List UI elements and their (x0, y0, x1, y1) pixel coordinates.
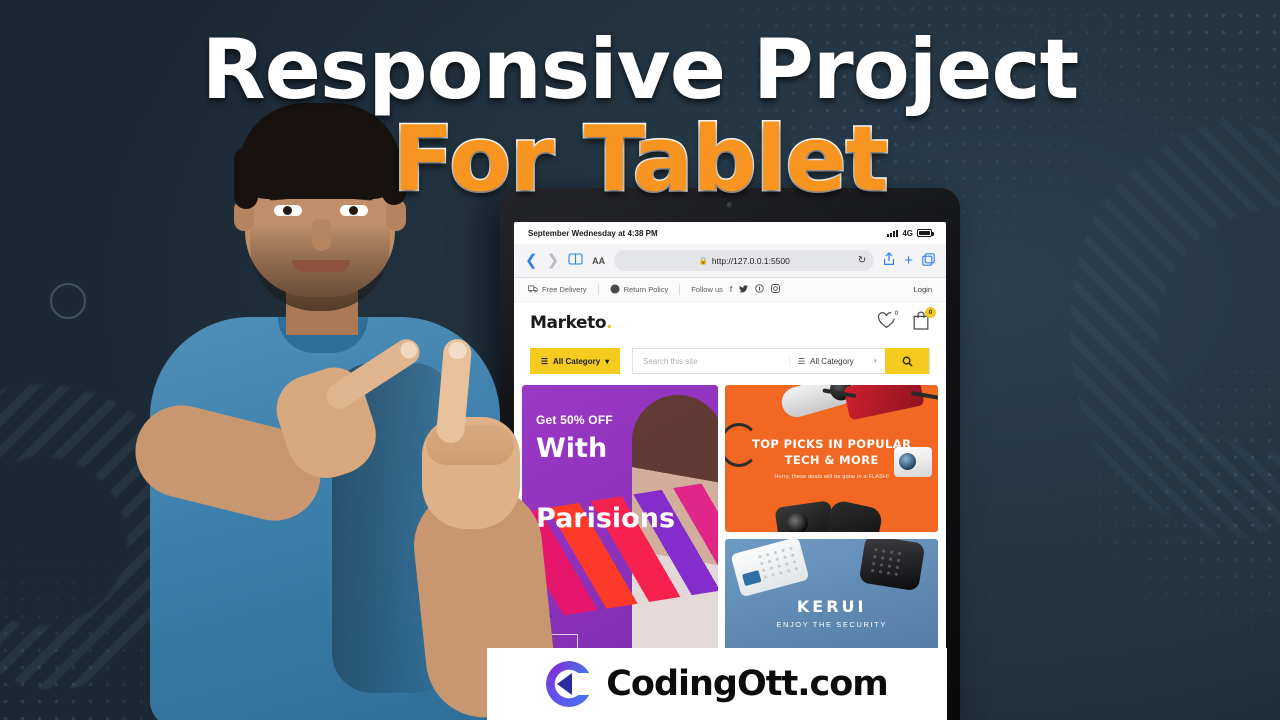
drone-product-image (843, 385, 924, 421)
page-subtitle: For Tablet (0, 115, 1280, 205)
wishlist-count-badge: 0 (891, 308, 902, 319)
presenter-mouth (292, 260, 350, 272)
brand-name: CodingOtt.com (606, 664, 888, 704)
wishlist-button[interactable]: 0 (877, 312, 896, 334)
chevron-down-icon: ▾ (873, 357, 877, 365)
network-label: 4G (902, 229, 913, 238)
return-policy-item[interactable]: Return Policy (610, 284, 680, 296)
cart-count-badge: 0 (925, 307, 936, 318)
cart-button[interactable]: 0 (912, 311, 930, 335)
search-submit-button[interactable] (885, 348, 929, 374)
search-category-select[interactable]: ☰ All Category ▾ (789, 357, 885, 366)
headline-block: Responsive Project For Tablet (0, 0, 1280, 205)
divider (679, 284, 680, 295)
search-category-label: All Category (810, 357, 854, 366)
presenter-eye-right (340, 205, 368, 216)
presenter-nose (312, 219, 331, 251)
menu-icon: ☰ (798, 357, 805, 366)
logo-arrow (557, 673, 572, 695)
presenter-eye-left (274, 205, 302, 216)
address-bar[interactable]: 🔒 http://127.0.0.1:5500 ↻ (614, 250, 874, 271)
search-icon (902, 356, 913, 367)
logo-ring-gap (577, 673, 593, 695)
plus-icon[interactable]: + (904, 253, 913, 268)
return-policy-label: Return Policy (624, 285, 669, 294)
alarm-keypad-image (731, 539, 810, 597)
globe-icon (610, 284, 620, 296)
search-box: ☰ All Category ▾ (632, 348, 930, 374)
page-title: Responsive Project (0, 28, 1280, 111)
social-links: f (730, 284, 780, 295)
header-icons: 0 0 (877, 311, 930, 335)
promo-kerui-title: KERUI (797, 597, 867, 616)
brand-watermark: CodingOtt.com (487, 648, 947, 720)
facebook-icon[interactable]: f (730, 285, 732, 294)
instagram-icon[interactable] (771, 284, 780, 295)
follow-us-label: Follow us (691, 285, 723, 294)
chevron-down-icon: ▾ (605, 357, 609, 366)
site-logo-dot: . (606, 313, 612, 333)
share-icon[interactable] (883, 252, 895, 269)
login-link[interactable]: Login (914, 285, 932, 294)
lock-icon: 🔒 (699, 256, 708, 265)
text-size-label[interactable]: AA (592, 256, 605, 266)
decorative-circle (50, 283, 86, 319)
promo-kerui-subtitle: ENJOY THE SECURITY (776, 620, 887, 629)
divider (598, 284, 599, 295)
address-bar-url: http://127.0.0.1:5500 (712, 256, 790, 266)
promo-banner-orange[interactable]: TOP PICKS IN POPULAR TECH & MORE Hurry, … (725, 385, 938, 532)
promo-orange-subtitle: Hurry, these deals will be gone in a FLA… (774, 474, 889, 480)
reload-icon[interactable]: ↻ (858, 255, 866, 266)
promo-orange-title-line2: TECH & MORE (785, 453, 879, 469)
battery-icon (917, 229, 932, 237)
twitter-icon[interactable] (739, 285, 748, 295)
controller-product-image (824, 499, 884, 532)
status-indicators: 4G (887, 229, 932, 238)
alarm-remote-image (859, 539, 926, 591)
promo-orange-title-line1: TOP PICKS IN POPULAR (752, 437, 911, 453)
pinterest-icon[interactable] (755, 284, 764, 295)
tabs-icon[interactable] (922, 253, 935, 269)
codingott-logo-icon (546, 661, 592, 707)
signal-bars-icon (887, 230, 898, 237)
search-input[interactable] (633, 357, 789, 366)
banner-column-right: TOP PICKS IN POPULAR TECH & MORE Hurry, … (725, 385, 938, 686)
